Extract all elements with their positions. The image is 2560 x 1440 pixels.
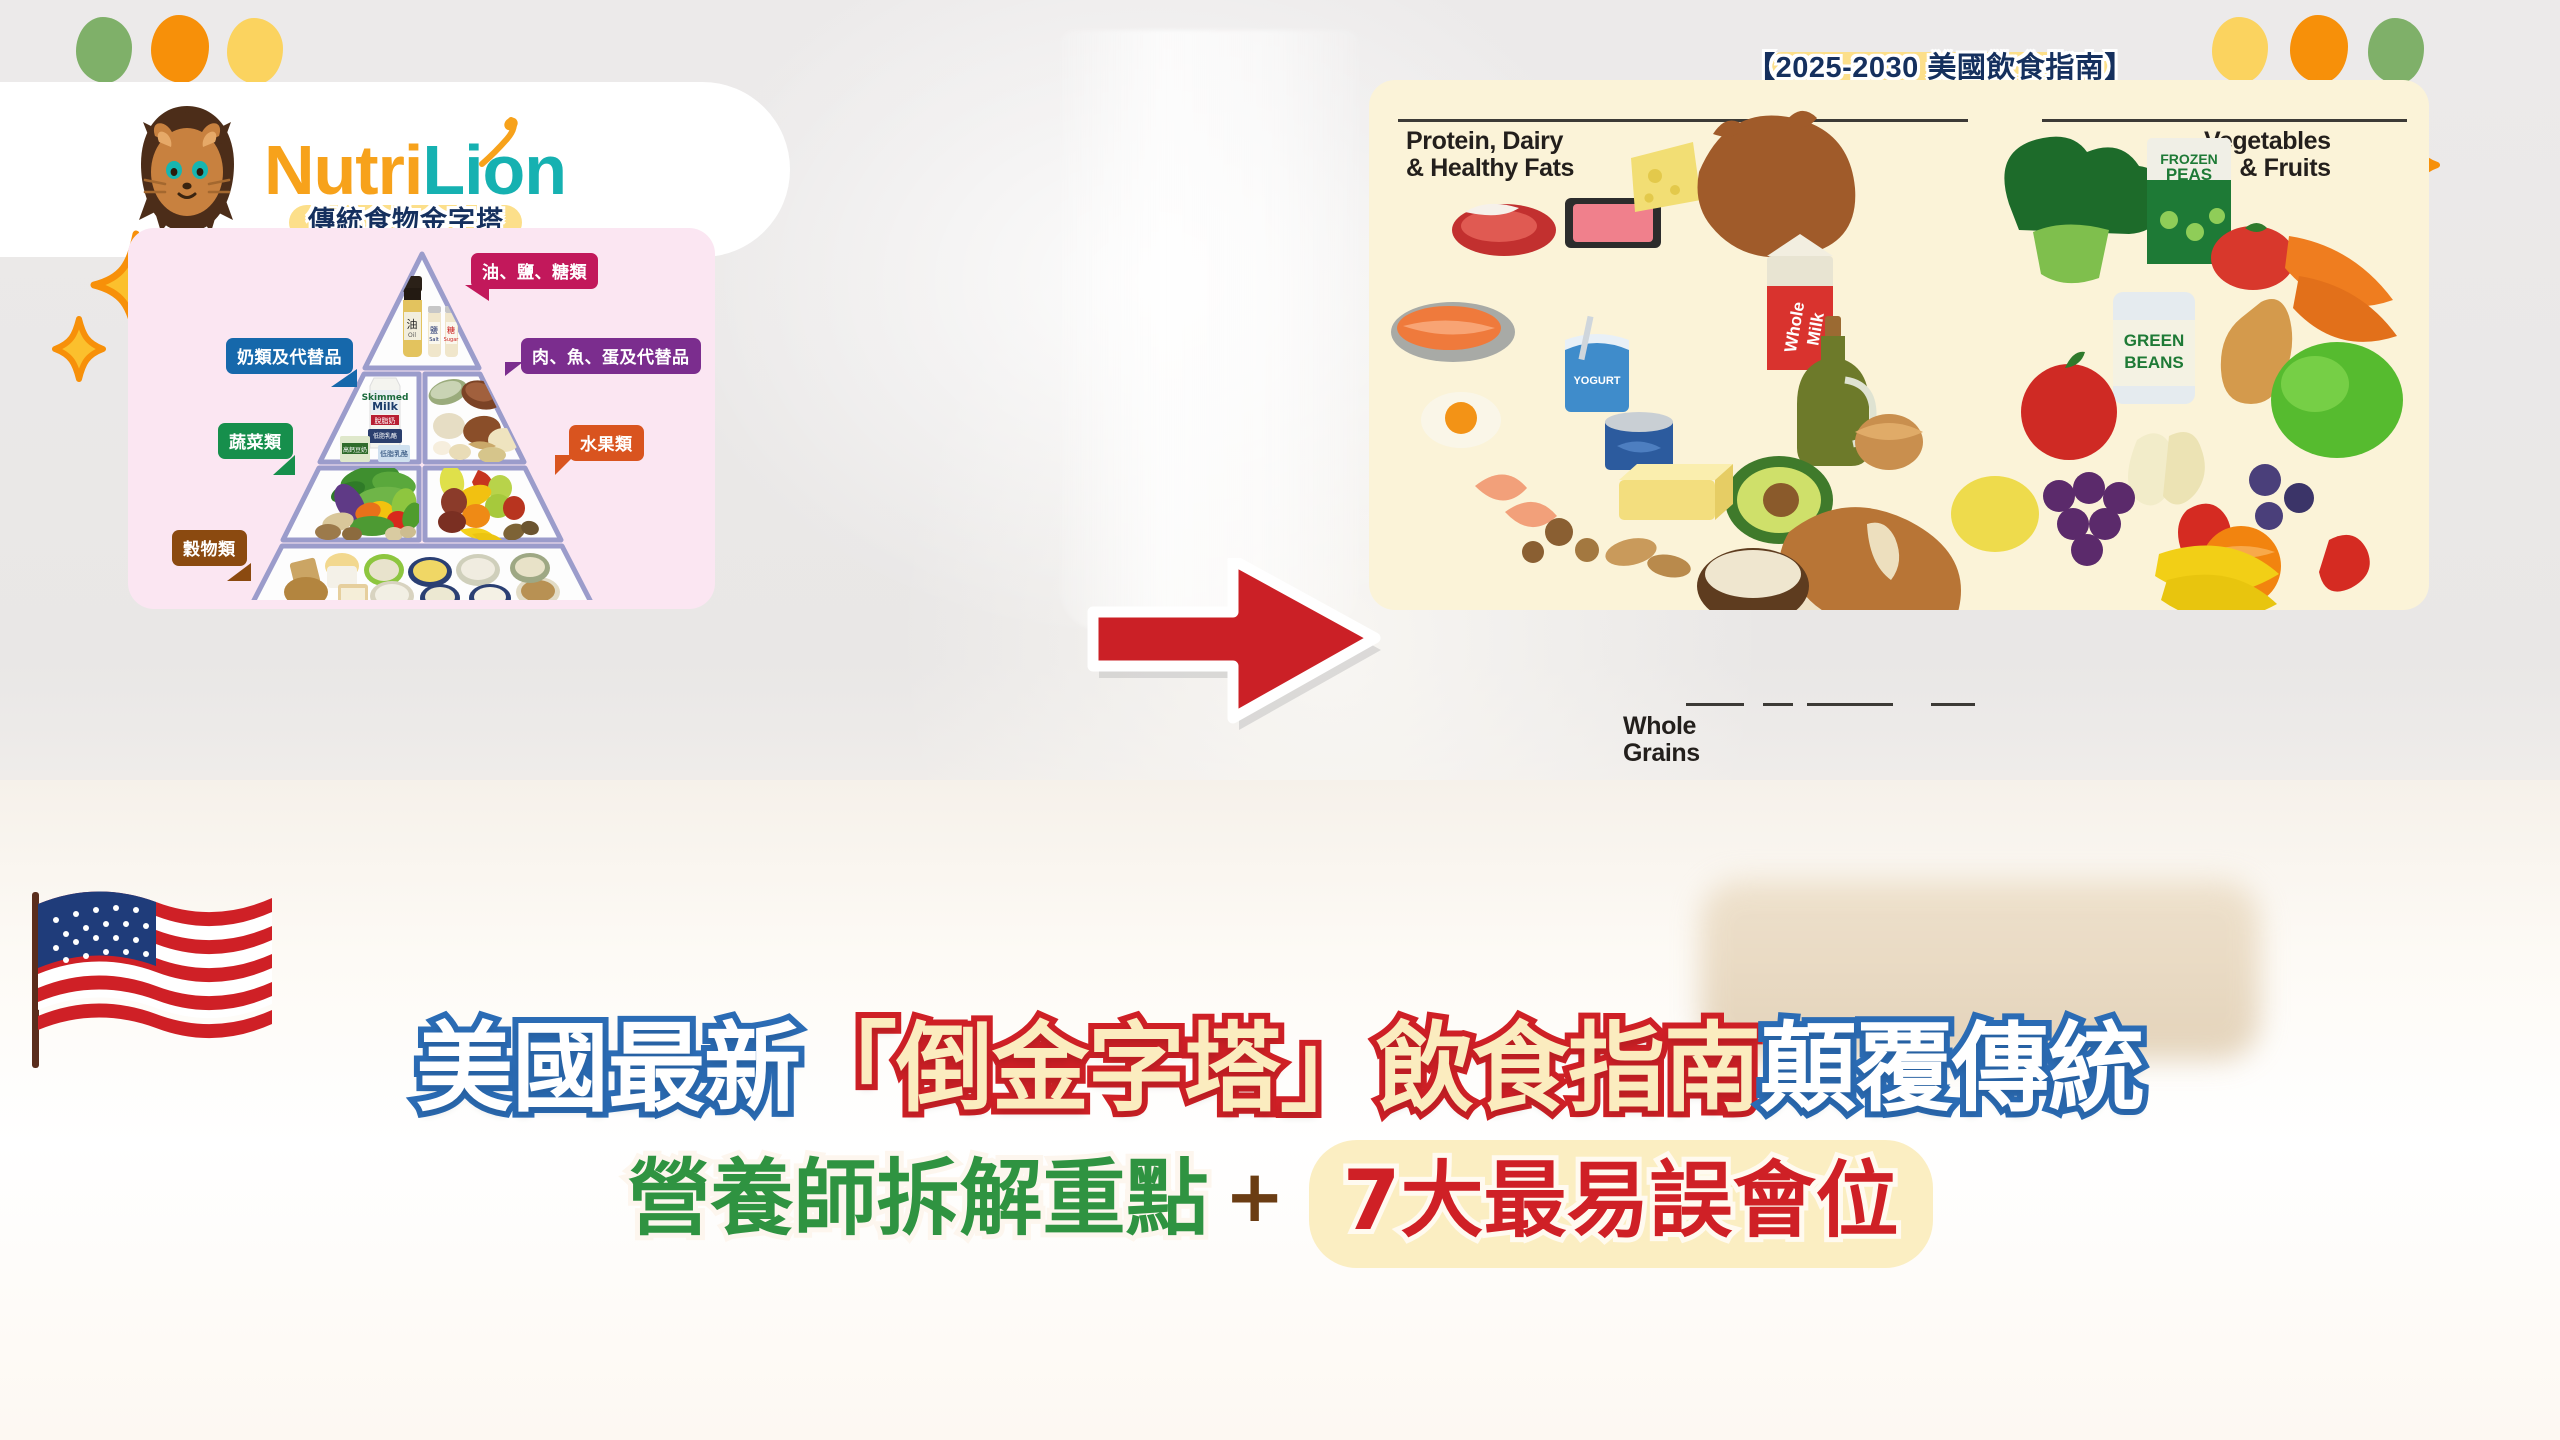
headline-seg-blue-1: 美國最新: [416, 1012, 800, 1125]
brand-wordmark: NutriLion: [264, 135, 566, 205]
decor-dot-orange-left: [151, 15, 209, 83]
svg-text:Salt: Salt: [429, 337, 439, 343]
decor-dot-green-right: [2368, 18, 2424, 84]
pyramid-label-dairy[interactable]: 奶類及代替品: [226, 338, 353, 374]
headline-seg-green: 營養師拆解重點: [627, 1150, 1208, 1247]
svg-text:低脂乳酪: 低脂乳酪: [373, 432, 397, 440]
label-whole-grains: Whole Grains: [1623, 713, 1700, 767]
headline-pill-badge: 7大最易誤會位: [1309, 1140, 1933, 1268]
svg-text:高鈣豆奶: 高鈣豆奶: [343, 446, 367, 454]
svg-text:糖: 糖: [447, 325, 455, 335]
svg-text:低脂乳酪: 低脂乳酪: [380, 449, 408, 458]
svg-text:BEANS: BEANS: [2124, 353, 2184, 372]
svg-text:Milk: Milk: [372, 400, 398, 413]
spoon-swoosh-icon: [472, 117, 518, 169]
brand-wordmark-nutri: Nutri: [264, 131, 422, 209]
headline-block: 美國最新「倒金字塔」飲食指南顛覆傳統 營養師拆解重點+7大最易誤會位: [0, 1010, 2560, 1268]
divider-dash-2: [1763, 703, 1793, 706]
svg-text:GREEN: GREEN: [2124, 331, 2184, 350]
pyramid-label-oil-salt-sugar[interactable]: 油、鹽、糖類: [471, 253, 598, 289]
svg-text:油: 油: [407, 317, 418, 331]
lion-head-icon: [125, 102, 250, 237]
divider-dash-4: [1931, 703, 1975, 706]
divider-dash-1: [1686, 703, 1744, 706]
decor-dot-green-left: [76, 17, 132, 83]
pyramid-label-fruits[interactable]: 水果類: [569, 425, 644, 461]
decor-dot-yellow-left: [227, 18, 283, 84]
label-grains-line2: Grains: [1623, 740, 1700, 767]
svg-text:脫脂奶: 脫脂奶: [375, 416, 396, 425]
divider-dash-3: [1807, 703, 1893, 706]
decor-dot-orange-right: [2290, 15, 2348, 83]
headline-plus-sign: +: [1208, 1154, 1300, 1238]
headline-seg-blue-2: 顛覆傳統: [1760, 1012, 2144, 1125]
headline-line-1: 美國最新「倒金字塔」飲食指南顛覆傳統: [0, 1010, 2560, 1128]
label-grains-line1: Whole: [1623, 713, 1700, 740]
svg-text:PEAS: PEAS: [2166, 165, 2212, 184]
svg-text:Oil: Oil: [408, 332, 416, 339]
pyramid-label-meat-fish-egg[interactable]: 肉、魚、蛋及代替品: [521, 338, 701, 374]
headline-line-2: 營養師拆解重點+7大最易誤會位: [0, 1140, 2560, 1268]
sparkle-icon-left-small: [52, 316, 106, 382]
svg-text:鹽: 鹽: [430, 325, 438, 335]
pyramid-label-vegetables[interactable]: 蔬菜類: [218, 423, 293, 459]
right-arrow-icon: [1085, 558, 1385, 788]
pyramid-label-grains[interactable]: 穀物類: [172, 530, 247, 566]
svg-text:YOGURT: YOGURT: [1573, 375, 1620, 387]
headline-seg-red-2: 7大最易誤會位: [1343, 1152, 1899, 1249]
inverted-food-pyramid-illustration: Whole Milk YOGURT FROZEN PEAS GREEN BEAN…: [1369, 80, 2429, 610]
headline-seg-red-1: 「倒金字塔」飲食指南: [800, 1012, 1760, 1125]
svg-text:Sugar: Sugar: [444, 337, 460, 343]
